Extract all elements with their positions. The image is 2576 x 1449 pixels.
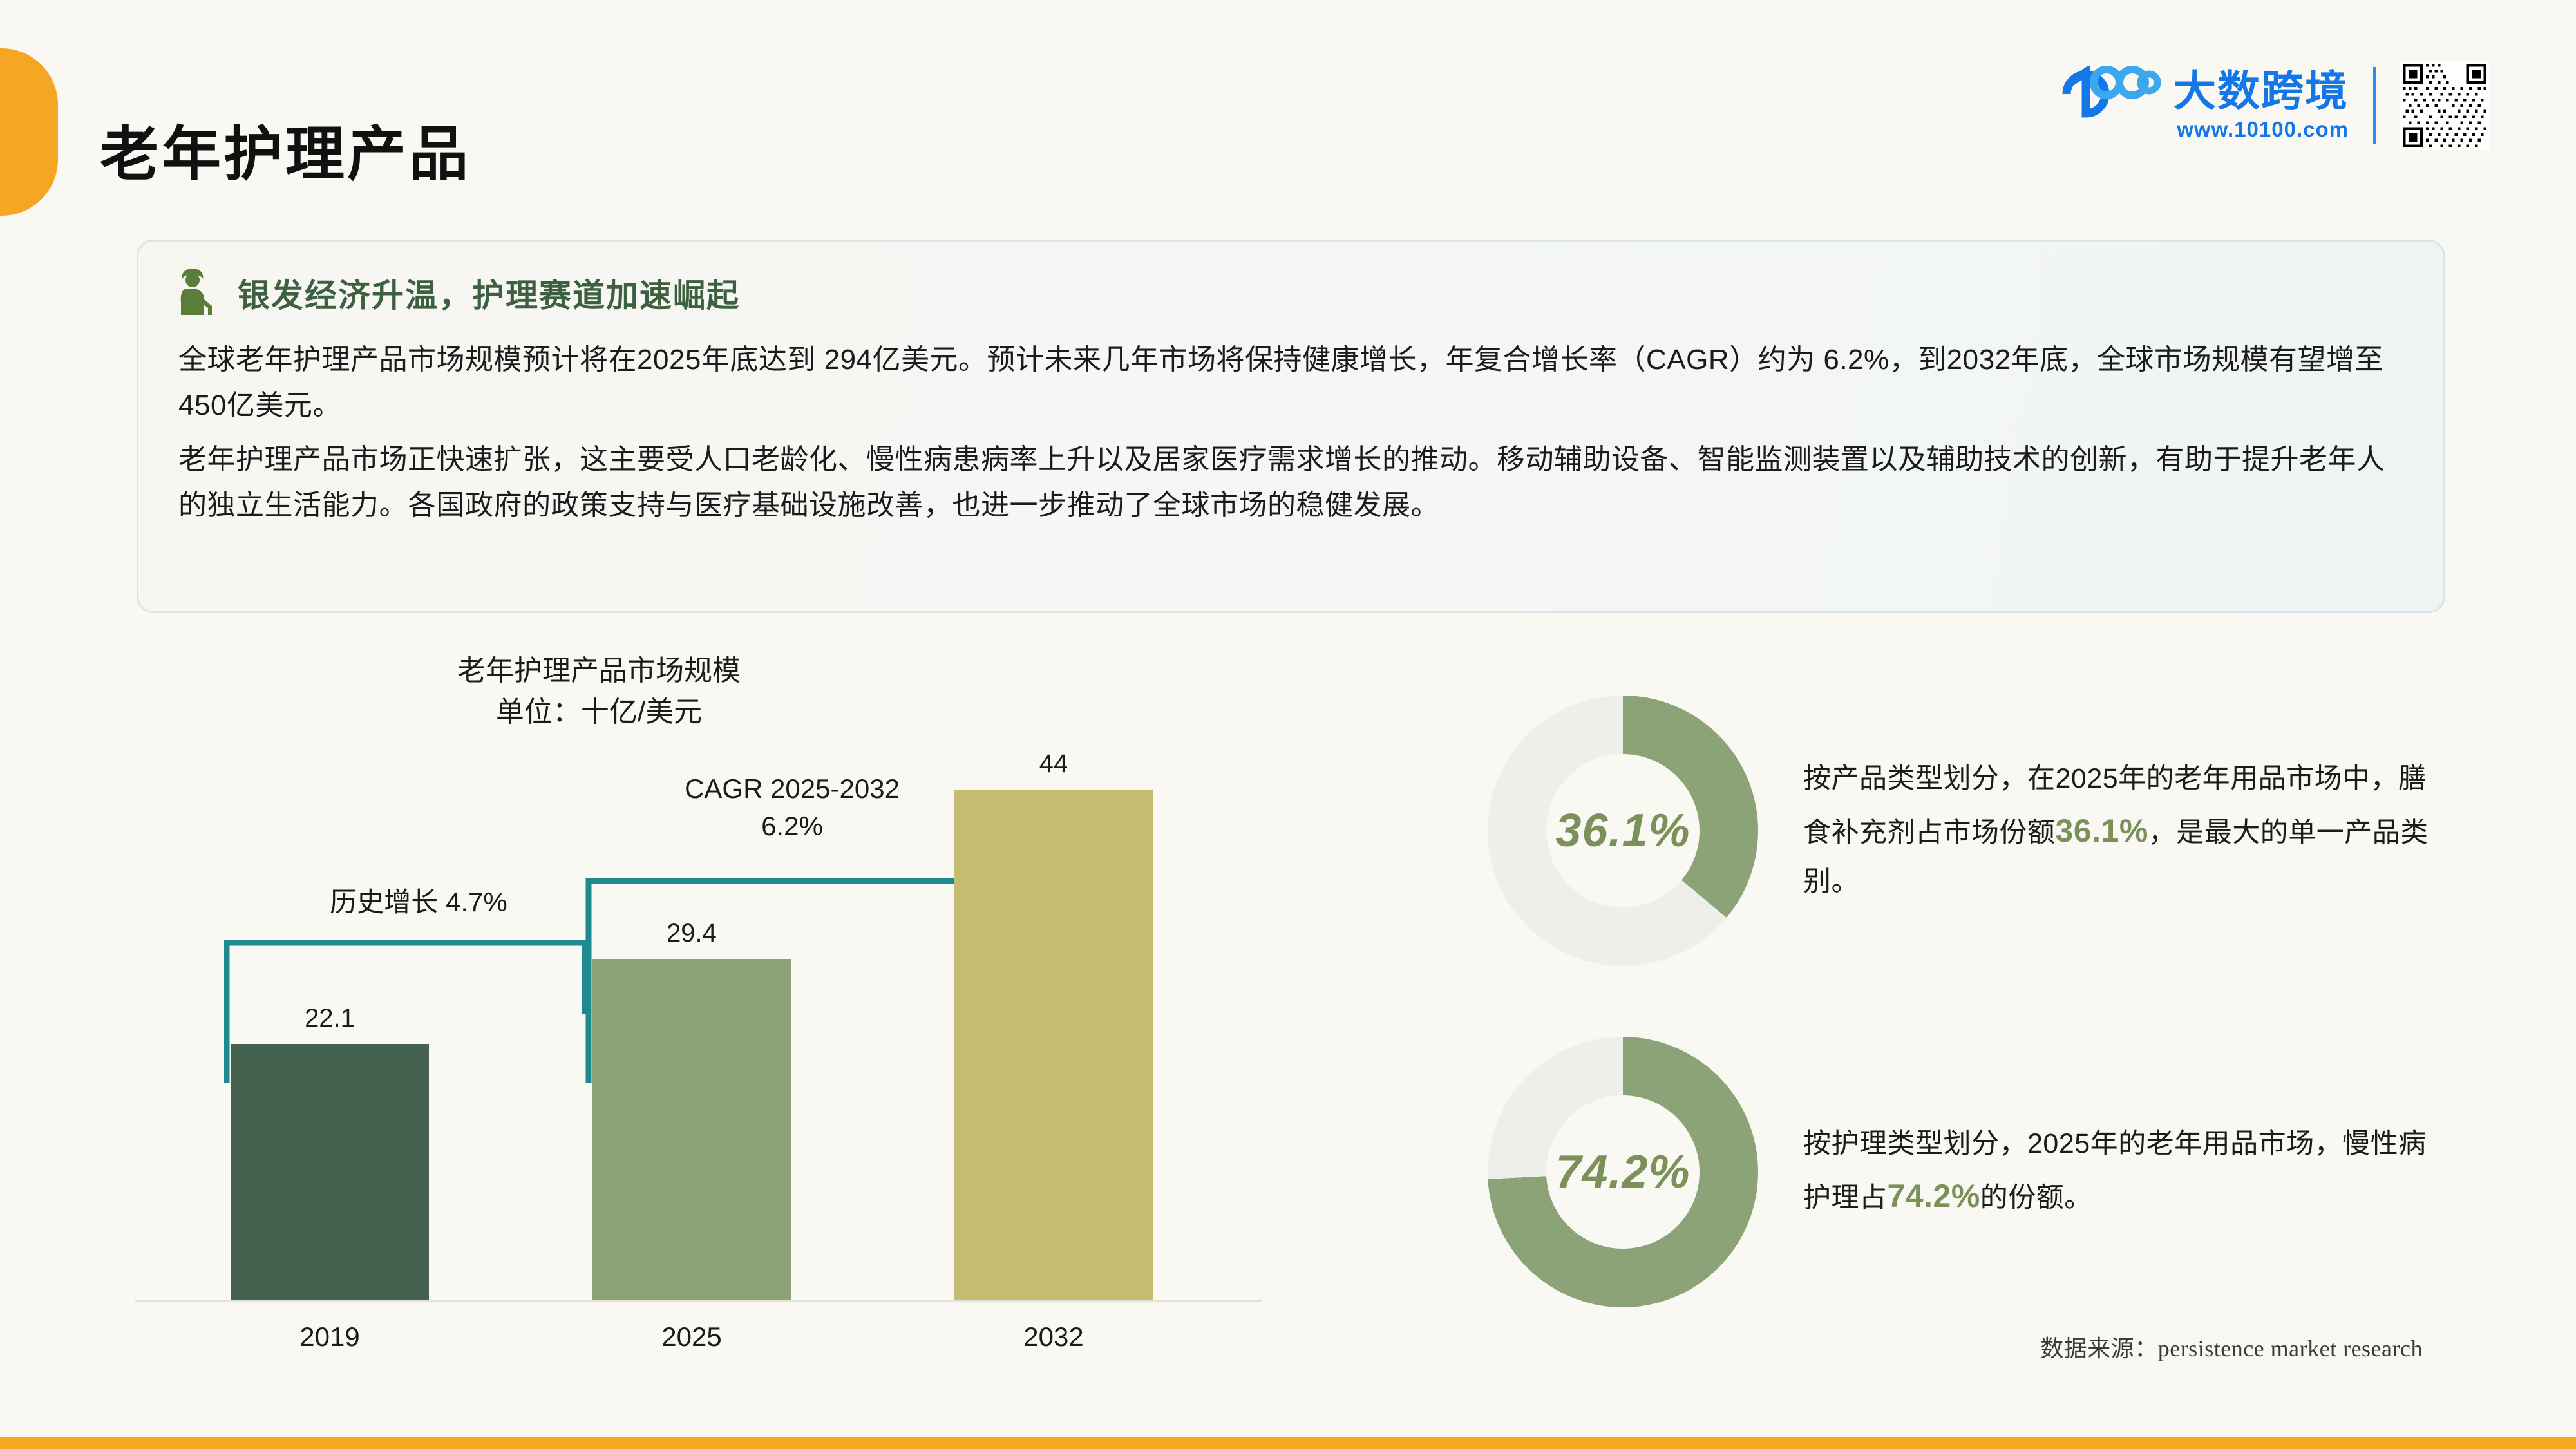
bar-category-2019: 2019 (231, 1321, 429, 1352)
donut-percent-36: 36.1% (1555, 804, 1690, 857)
bar-2032: 44 (954, 790, 1153, 1300)
bar-value-2032: 44 (954, 750, 1153, 779)
data-source-note: 数据来源：persistence market research (2040, 1330, 2423, 1363)
brand-url: www.10100.com (2177, 117, 2349, 142)
callout-paragraph-2: 老年护理产品市场正快速扩张，这主要受人口老龄化、慢性病患病率上升以及居家医疗需求… (178, 437, 2403, 529)
summary-callout-card: 银发经济升温，护理赛道加速崛起 全球老年护理产品市场规模预计将在2025年底达到… (137, 240, 2445, 613)
donut-chart-74: 74.2% (1488, 1037, 1758, 1307)
donut-row-product-type: 36.1% 按产品类型划分，在2025年的老年用品市场中，膳食补充剂占市场份额3… (1488, 696, 2454, 966)
decorative-orange-blob (0, 48, 58, 216)
brand-lockup: 大数跨境 www.10100.com (2052, 66, 2349, 146)
donut-text-highlight-36: 36.1% (2056, 813, 2148, 849)
brand-block: 大数跨境 www.10100.com (2052, 61, 2489, 150)
bar-2019: 22.1 (231, 1044, 429, 1300)
donut-text-suffix-74: 的份额。 (1980, 1182, 2092, 1213)
donut-description-74: 按护理类型划分，2025年的老年用品市场，慢性病护理占74.2%的份额。 (1803, 1121, 2454, 1224)
donut-row-care-type: 74.2% 按护理类型划分，2025年的老年用品市场，慢性病护理占74.2%的份… (1488, 1037, 2454, 1307)
bar-category-2025: 2025 (592, 1321, 791, 1352)
donut-hole-36: 36.1% (1546, 754, 1700, 907)
callout-paragraph-1: 全球老年护理产品市场规模预计将在2025年底达到 294亿美元。预计未来几年市场… (178, 337, 2403, 429)
donut-percent-74: 74.2% (1555, 1146, 1690, 1198)
donut-hole-74: 74.2% (1546, 1095, 1700, 1249)
10100-logo-icon (2052, 66, 2162, 146)
cagr-label: CAGR 2025-2032 6.2% (599, 770, 985, 845)
callout-body: 全球老年护理产品市场规模预计将在2025年底达到 294亿美元。预计未来几年市场… (178, 337, 2403, 528)
brand-name: 大数跨境 (2173, 70, 2349, 112)
bar-value-2019: 22.1 (231, 1004, 429, 1033)
brand-divider (2373, 67, 2376, 144)
bar-category-2032: 2032 (954, 1321, 1153, 1352)
cagr-label-line2: 6.2% (599, 808, 985, 845)
donut-text-highlight-74: 74.2% (1888, 1178, 1980, 1214)
elderly-person-icon (178, 266, 221, 319)
chart-plot-area: 历史增长 4.7% CAGR 2025-2032 6.2% 22.1 2019 … (148, 811, 1314, 1352)
market-size-bar-chart: 老年护理产品市场规模 单位：十亿/美元 历史增长 4.7% CAGR 2025-… (148, 650, 1314, 1404)
donut-chart-36: 36.1% (1488, 696, 1758, 966)
chart-subtitle: 单位：十亿/美元 (148, 692, 1050, 733)
chart-title-block: 老年护理产品市场规模 单位：十亿/美元 (148, 650, 1050, 733)
bar-2025: 29.4 (592, 959, 791, 1300)
historical-growth-label: 历史增长 4.7% (238, 884, 599, 921)
donut-description-36: 按产品类型划分，在2025年的老年用品市场中，膳食补充剂占市场份额36.1%，是… (1803, 755, 2454, 906)
page-title: 老年护理产品 (100, 106, 471, 192)
cagr-label-line1: CAGR 2025-2032 (599, 770, 985, 808)
callout-heading-row: 银发经济升温，护理赛道加速崛起 (178, 266, 740, 319)
qr-code-icon (2400, 61, 2489, 150)
chart-baseline (135, 1300, 1262, 1302)
bar-value-2025: 29.4 (592, 919, 791, 948)
decorative-bottom-bar (0, 1437, 2576, 1449)
chart-title: 老年护理产品市场规模 (148, 650, 1050, 692)
callout-heading: 银发经济升温，护理赛道加速崛起 (238, 270, 740, 316)
